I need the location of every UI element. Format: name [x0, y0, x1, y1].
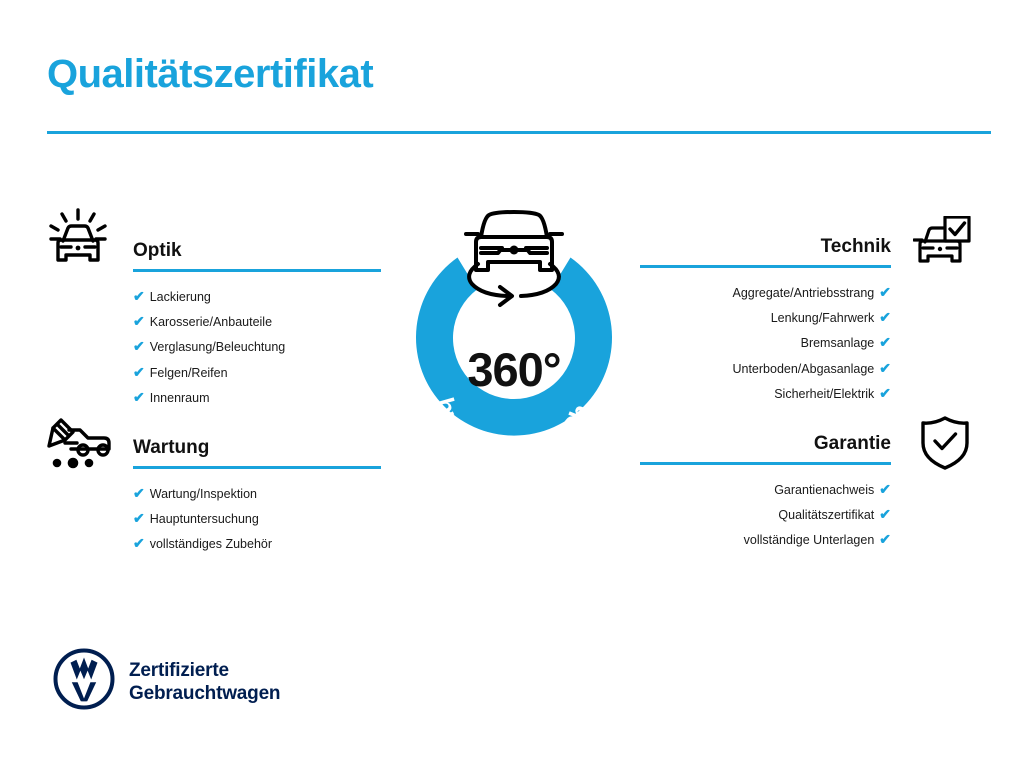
section-optik-divider — [133, 269, 381, 272]
list-item-label: Lackierung — [150, 290, 211, 304]
section-technik-title: Technik — [640, 234, 891, 260]
section-garantie: Garantie Garantienachweis✔ Qualitätszert… — [640, 431, 891, 553]
list-item-label: Wartung/Inspektion — [150, 487, 257, 501]
section-technik-divider — [640, 265, 891, 268]
list-item: Sicherheit/Elektrik✔ — [640, 381, 891, 406]
badge-360-check: Gebrauchtwagen-Check 360° — [374, 196, 654, 496]
list-item-label: Bremsanlage — [801, 336, 875, 350]
check-icon: ✔ — [133, 288, 145, 304]
car-front-shine-icon — [47, 208, 109, 275]
car-pen-service-icon — [47, 416, 115, 477]
list-item: ✔Wartung/Inspektion — [133, 481, 381, 506]
check-icon: ✔ — [133, 510, 145, 526]
section-optik-title: Optik — [133, 238, 381, 264]
section-wartung-list: ✔Wartung/Inspektion ✔Hauptuntersuchung ✔… — [133, 481, 381, 557]
section-technik-header: Technik — [640, 234, 891, 268]
vw-logo-block: Zertifizierte Gebrauchtwagen — [53, 648, 280, 715]
section-wartung-divider — [133, 466, 381, 469]
section-garantie-list: Garantienachweis✔ Qualitätszertifikat✔ v… — [640, 477, 891, 553]
title-divider — [47, 131, 991, 134]
car-rotate-icon — [466, 212, 562, 305]
list-item-label: Karosserie/Anbauteile — [150, 315, 272, 329]
check-icon: ✔ — [133, 313, 145, 329]
check-icon: ✔ — [879, 360, 891, 376]
list-item: ✔Lackierung — [133, 284, 381, 309]
section-optik: Optik ✔Lackierung ✔Karosserie/Anbauteile… — [133, 238, 381, 410]
list-item-label: Aggregate/Antriebsstrang — [733, 286, 875, 300]
list-item: ✔Felgen/Reifen — [133, 360, 381, 385]
list-item-label: Sicherheit/Elektrik — [774, 387, 874, 401]
list-item-label: Verglasung/Beleuchtung — [150, 340, 286, 354]
vw-wordmark-line2: Gebrauchtwagen — [129, 683, 280, 704]
section-garantie-title: Garantie — [640, 431, 891, 457]
list-item: Qualitätszertifikat✔ — [640, 502, 891, 527]
check-icon: ✔ — [133, 485, 145, 501]
check-icon: ✔ — [879, 284, 891, 300]
list-item: Bremsanlage✔ — [640, 330, 891, 355]
section-garantie-divider — [640, 462, 891, 465]
list-item: Aggregate/Antriebsstrang✔ — [640, 280, 891, 305]
list-item: ✔Innenraum — [133, 385, 381, 410]
check-icon: ✔ — [133, 364, 145, 380]
vw-roundel-logo — [53, 648, 115, 715]
list-item: ✔vollständiges Zubehör — [133, 531, 381, 556]
section-optik-list: ✔Lackierung ✔Karosserie/Anbauteile ✔Verg… — [133, 284, 381, 410]
list-item-label: Hauptuntersuchung — [150, 512, 259, 526]
check-icon: ✔ — [133, 389, 145, 405]
list-item-label: Felgen/Reifen — [150, 366, 228, 380]
section-wartung: Wartung ✔Wartung/Inspektion ✔Hauptunters… — [133, 435, 381, 557]
section-technik: Technik Aggregate/Antriebsstrang✔ Lenkun… — [640, 234, 891, 406]
list-item-label: Lenkung/Fahrwerk — [771, 311, 875, 325]
list-item-label: Garantienachweis — [774, 483, 874, 497]
check-icon: ✔ — [879, 481, 891, 497]
list-item-label: vollständiges Zubehör — [150, 537, 272, 551]
list-item: ✔Verglasung/Beleuchtung — [133, 334, 381, 359]
check-icon: ✔ — [879, 531, 891, 547]
vw-wordmark-line1: Zertifizierte — [129, 660, 229, 681]
check-icon: ✔ — [879, 385, 891, 401]
list-item: ✔Karosserie/Anbauteile — [133, 309, 381, 334]
list-item-label: vollständige Unterlagen — [744, 533, 875, 547]
badge-value: 360° — [374, 346, 654, 393]
list-item: Unterboden/Abgasanlage✔ — [640, 356, 891, 381]
section-wartung-header: Wartung — [133, 435, 381, 469]
section-wartung-title: Wartung — [133, 435, 381, 461]
page-title: Qualitätszertifikat — [47, 52, 373, 96]
check-icon: ✔ — [133, 535, 145, 551]
check-icon: ✔ — [879, 506, 891, 522]
check-icon: ✔ — [133, 338, 145, 354]
vw-wordmark: Zertifizierte Gebrauchtwagen — [129, 659, 280, 705]
check-icon: ✔ — [879, 309, 891, 325]
list-item: ✔Hauptuntersuchung — [133, 506, 381, 531]
list-item: Garantienachweis✔ — [640, 477, 891, 502]
section-technik-list: Aggregate/Antriebsstrang✔ Lenkung/Fahrwe… — [640, 280, 891, 406]
list-item: vollständige Unterlagen✔ — [640, 527, 891, 552]
list-item: Lenkung/Fahrwerk✔ — [640, 305, 891, 330]
shield-check-icon — [920, 415, 970, 476]
list-item-label: Unterboden/Abgasanlage — [732, 362, 874, 376]
section-garantie-header: Garantie — [640, 431, 891, 465]
check-icon: ✔ — [879, 334, 891, 350]
list-item-label: Qualitätszertifikat — [778, 508, 874, 522]
car-front-checkbox-icon — [913, 216, 971, 273]
section-optik-header: Optik — [133, 238, 381, 272]
list-item-label: Innenraum — [150, 391, 210, 405]
